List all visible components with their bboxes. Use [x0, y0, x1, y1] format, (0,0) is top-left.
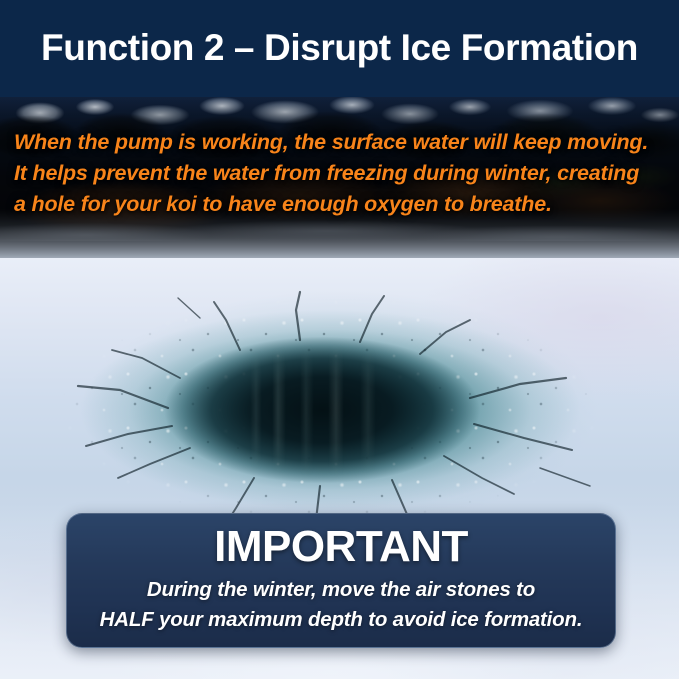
important-heading: IMPORTANT: [83, 522, 599, 572]
page-title: Function 2 – Disrupt Ice Formation: [0, 22, 679, 74]
important-line-2: HALF your maximum depth to avoid ice for…: [83, 605, 599, 635]
infographic-card: When the pump is working, the surface wa…: [0, 0, 679, 679]
caption-line-2: It helps prevent the water from freezing…: [14, 158, 679, 189]
caption-line-3: a hole for your koi to have enough oxyge…: [14, 189, 679, 220]
important-line-1: During the winter, move the air stones t…: [83, 575, 599, 605]
caption-text: When the pump is working, the surface wa…: [0, 127, 679, 220]
caption-line-1: When the pump is working, the surface wa…: [14, 127, 679, 158]
important-callout: IMPORTANT During the winter, move the ai…: [66, 513, 616, 648]
header-bar: Function 2 – Disrupt Ice Formation: [0, 0, 679, 97]
important-body: During the winter, move the air stones t…: [83, 575, 599, 635]
